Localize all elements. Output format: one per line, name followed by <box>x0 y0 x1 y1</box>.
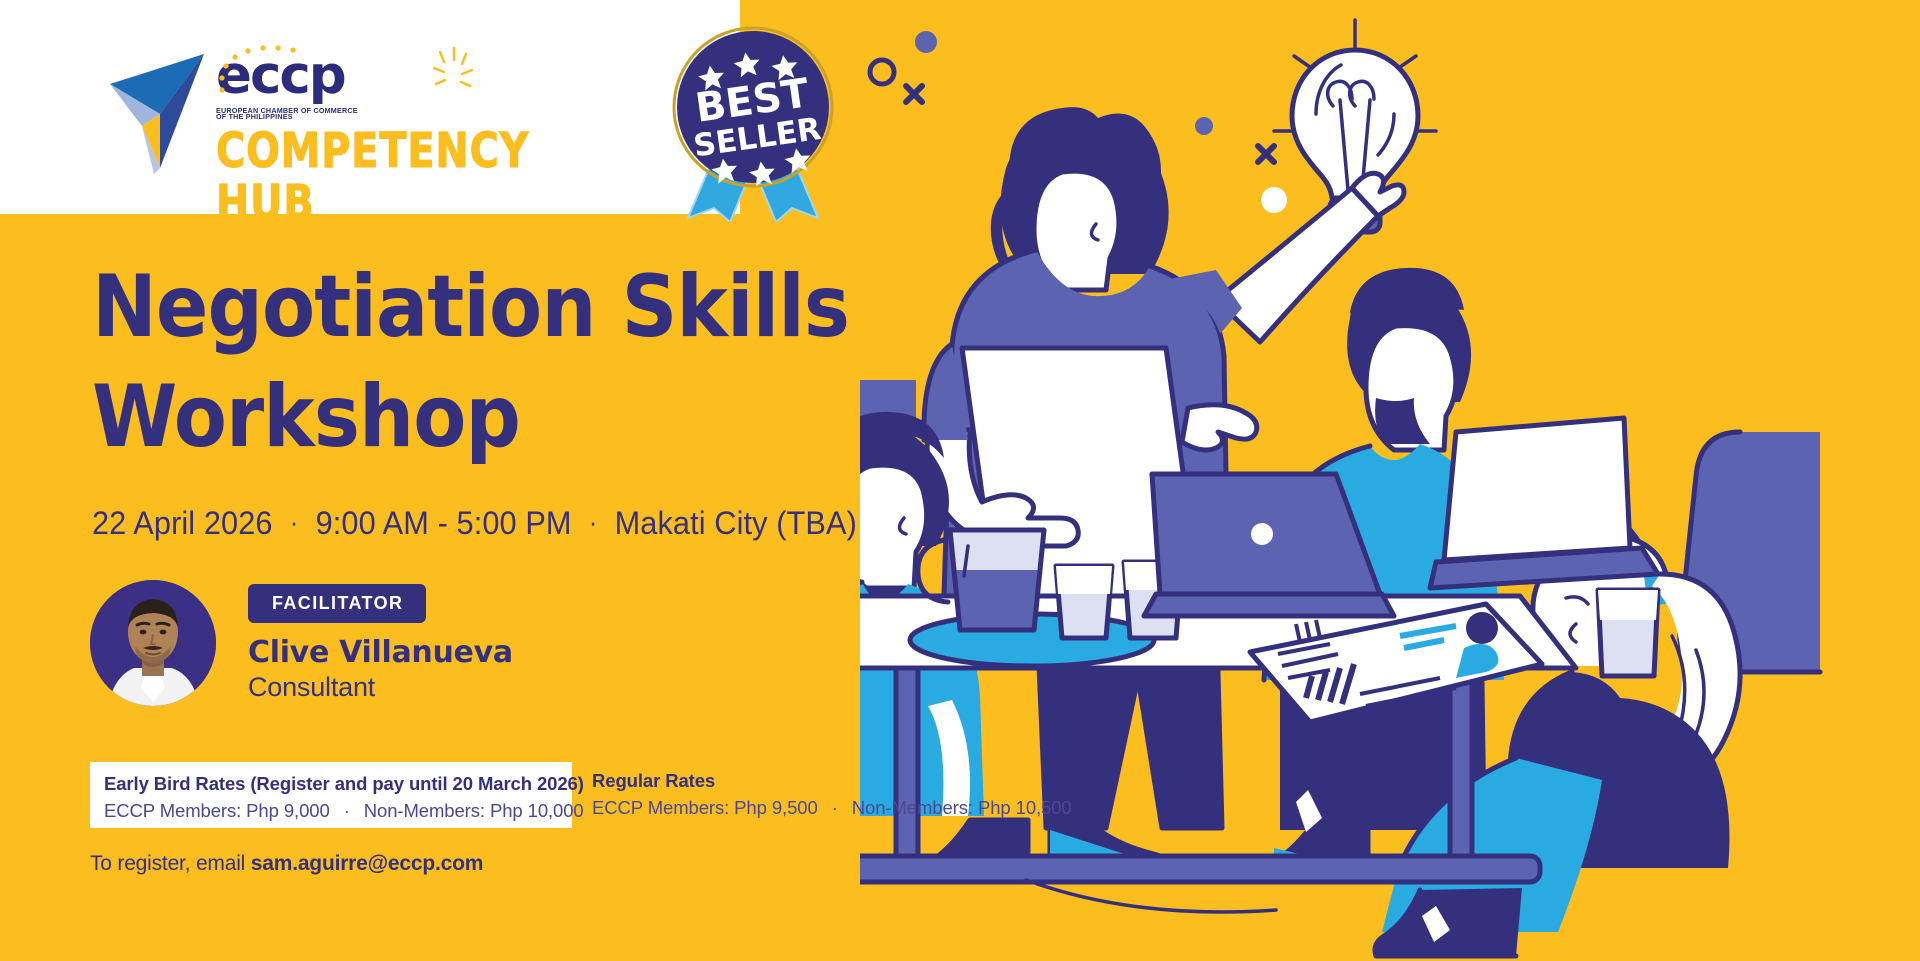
logo-product-name: COMPETENCY HUB <box>216 125 577 229</box>
laptop-right <box>1430 418 1658 588</box>
early-bird-members: ECCP Members: Php 9,000 <box>104 800 330 821</box>
rates-section: Early Bird Rates (Register and pay until… <box>90 762 1090 832</box>
regular-rates-box: Regular Rates ECCP Members: Php 9,500 · … <box>592 770 1072 819</box>
eu-stars-decoration <box>208 44 478 110</box>
event-date: 22 April 2026 <box>92 505 273 541</box>
regular-non-members: Non-Members: Php 10,500 <box>852 797 1072 818</box>
early-bird-non-members: Non-Members: Php 10,000 <box>364 800 584 821</box>
headline-line-2: Workshop <box>92 362 992 472</box>
early-bird-rates-box: Early Bird Rates (Register and pay until… <box>90 762 572 828</box>
event-venue: Makati City (TBA) <box>615 505 857 541</box>
facilitator-badge: FACILITATOR <box>248 584 426 623</box>
regular-rates-title: Regular Rates <box>592 770 1072 792</box>
page-title: Negotiation Skills Workshop <box>92 252 1092 472</box>
register-email[interactable]: sam.aguirre@eccp.com <box>251 852 483 875</box>
avatar <box>90 580 216 706</box>
facilitator-role: Consultant <box>248 672 513 703</box>
event-poster: .nv{fill:#35307E}.pw{fill:#5C63B0}.sb{fi… <box>0 0 1920 961</box>
regular-separator: · <box>823 797 847 818</box>
meta-separator-2: · <box>580 507 606 538</box>
register-prefix: To register, email <box>90 852 251 875</box>
register-line: To register, email sam.aguirre@eccp.com <box>90 852 483 876</box>
early-bird-title: Early Bird Rates (Register and pay until… <box>104 773 572 795</box>
facilitator-block: FACILITATOR Clive Villanueva Consultant <box>90 580 513 706</box>
regular-rates-detail: ECCP Members: Php 9,500 · Non-Members: P… <box>592 797 1072 819</box>
meta-separator-1: · <box>281 507 307 538</box>
facilitator-name: Clive Villanueva <box>248 635 513 670</box>
early-bird-separator: · <box>335 800 359 821</box>
paper-plane-logo-icon <box>108 48 220 174</box>
best-seller-ribbon-badge: BEST SELLER <box>668 22 838 222</box>
event-time: 9:00 AM - 5:00 PM <box>316 505 572 541</box>
event-meta-line: 22 April 2026 · 9:00 AM - 5:00 PM · Maka… <box>92 505 857 542</box>
headline-line-1: Negotiation Skills <box>92 252 992 362</box>
eccp-competency-hub-logo: eccp EUROPEAN CHAMBER OF COMMERCE OF THE… <box>108 42 608 172</box>
regular-members: ECCP Members: Php 9,500 <box>592 797 818 818</box>
early-bird-detail: ECCP Members: Php 9,000 · Non-Members: P… <box>104 800 572 822</box>
facilitator-info: FACILITATOR Clive Villanueva Consultant <box>248 584 513 703</box>
